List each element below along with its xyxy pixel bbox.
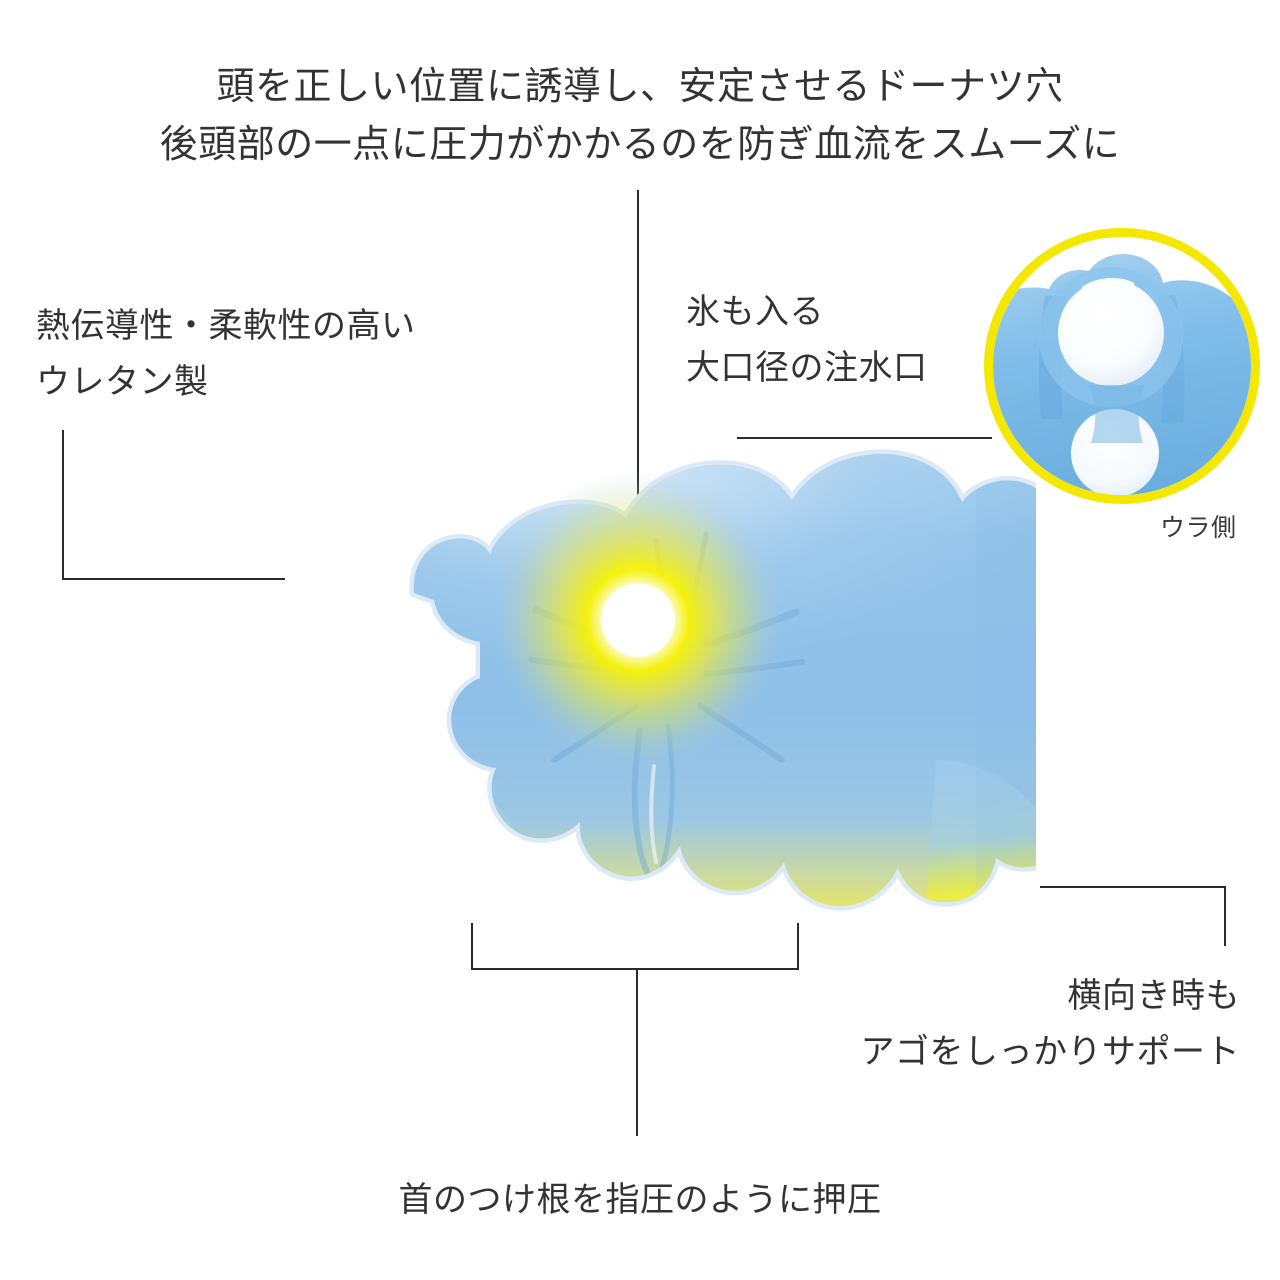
headline-line-2: 後頭部の一点に圧力がかかるのを防ぎ血流をスムーズに — [0, 116, 1280, 174]
bracket-right-arm — [797, 923, 799, 970]
callout-neck-press: 首のつけ根を指圧のように押圧 — [0, 1172, 1280, 1228]
infographic-canvas: 頭を正しい位置に誘導し、安定させるドーナツ穴 後頭部の一点に圧力がかかるのを防ぎ… — [0, 0, 1280, 1280]
bracket-stem — [636, 968, 638, 1136]
callout-material-line-1: 熱伝導性・柔軟性の高い — [36, 298, 416, 354]
callout-neck-press-line-1: 首のつけ根を指圧のように押圧 — [0, 1172, 1280, 1228]
leader-line-material-vertical — [62, 430, 64, 580]
inset-caption: ウラ側 — [1160, 512, 1237, 544]
water-inlet-closeup — [993, 237, 1251, 495]
donut-hole — [601, 583, 675, 657]
leader-line-side-support-vertical — [1224, 886, 1226, 946]
pillow-product-image — [236, 430, 1036, 930]
callout-material: 熱伝導性・柔軟性の高い ウレタン製 — [36, 298, 416, 410]
callout-inlet-line-1: 氷も入る — [686, 284, 928, 340]
headline-line-1: 頭を正しい位置に誘導し、安定させるドーナツ穴 — [0, 58, 1280, 116]
bracket-span — [471, 968, 799, 970]
callout-side-line-2: アゴをしっかりサポート — [861, 1024, 1241, 1080]
pillow-illustration — [236, 430, 1036, 930]
inset-neck-ridge — [1089, 385, 1145, 443]
callout-side-support: 横向き時も アゴをしっかりサポート — [861, 968, 1241, 1080]
leader-line-side-support-horizontal — [1040, 886, 1226, 888]
bracket-left-arm — [471, 923, 473, 970]
callout-water-inlet: 氷も入る 大口径の注水口 — [686, 284, 928, 396]
callout-inlet-line-2: 大口径の注水口 — [686, 340, 928, 396]
callout-material-line-2: ウレタン製 — [36, 354, 416, 410]
detail-inset-back-side — [984, 228, 1260, 504]
page-title: 頭を正しい位置に誘導し、安定させるドーナツ穴 後頭部の一点に圧力がかかるのを防ぎ… — [0, 58, 1280, 174]
water-inlet-cap-large — [1058, 280, 1164, 386]
callout-side-line-1: 横向き時も — [861, 968, 1241, 1024]
